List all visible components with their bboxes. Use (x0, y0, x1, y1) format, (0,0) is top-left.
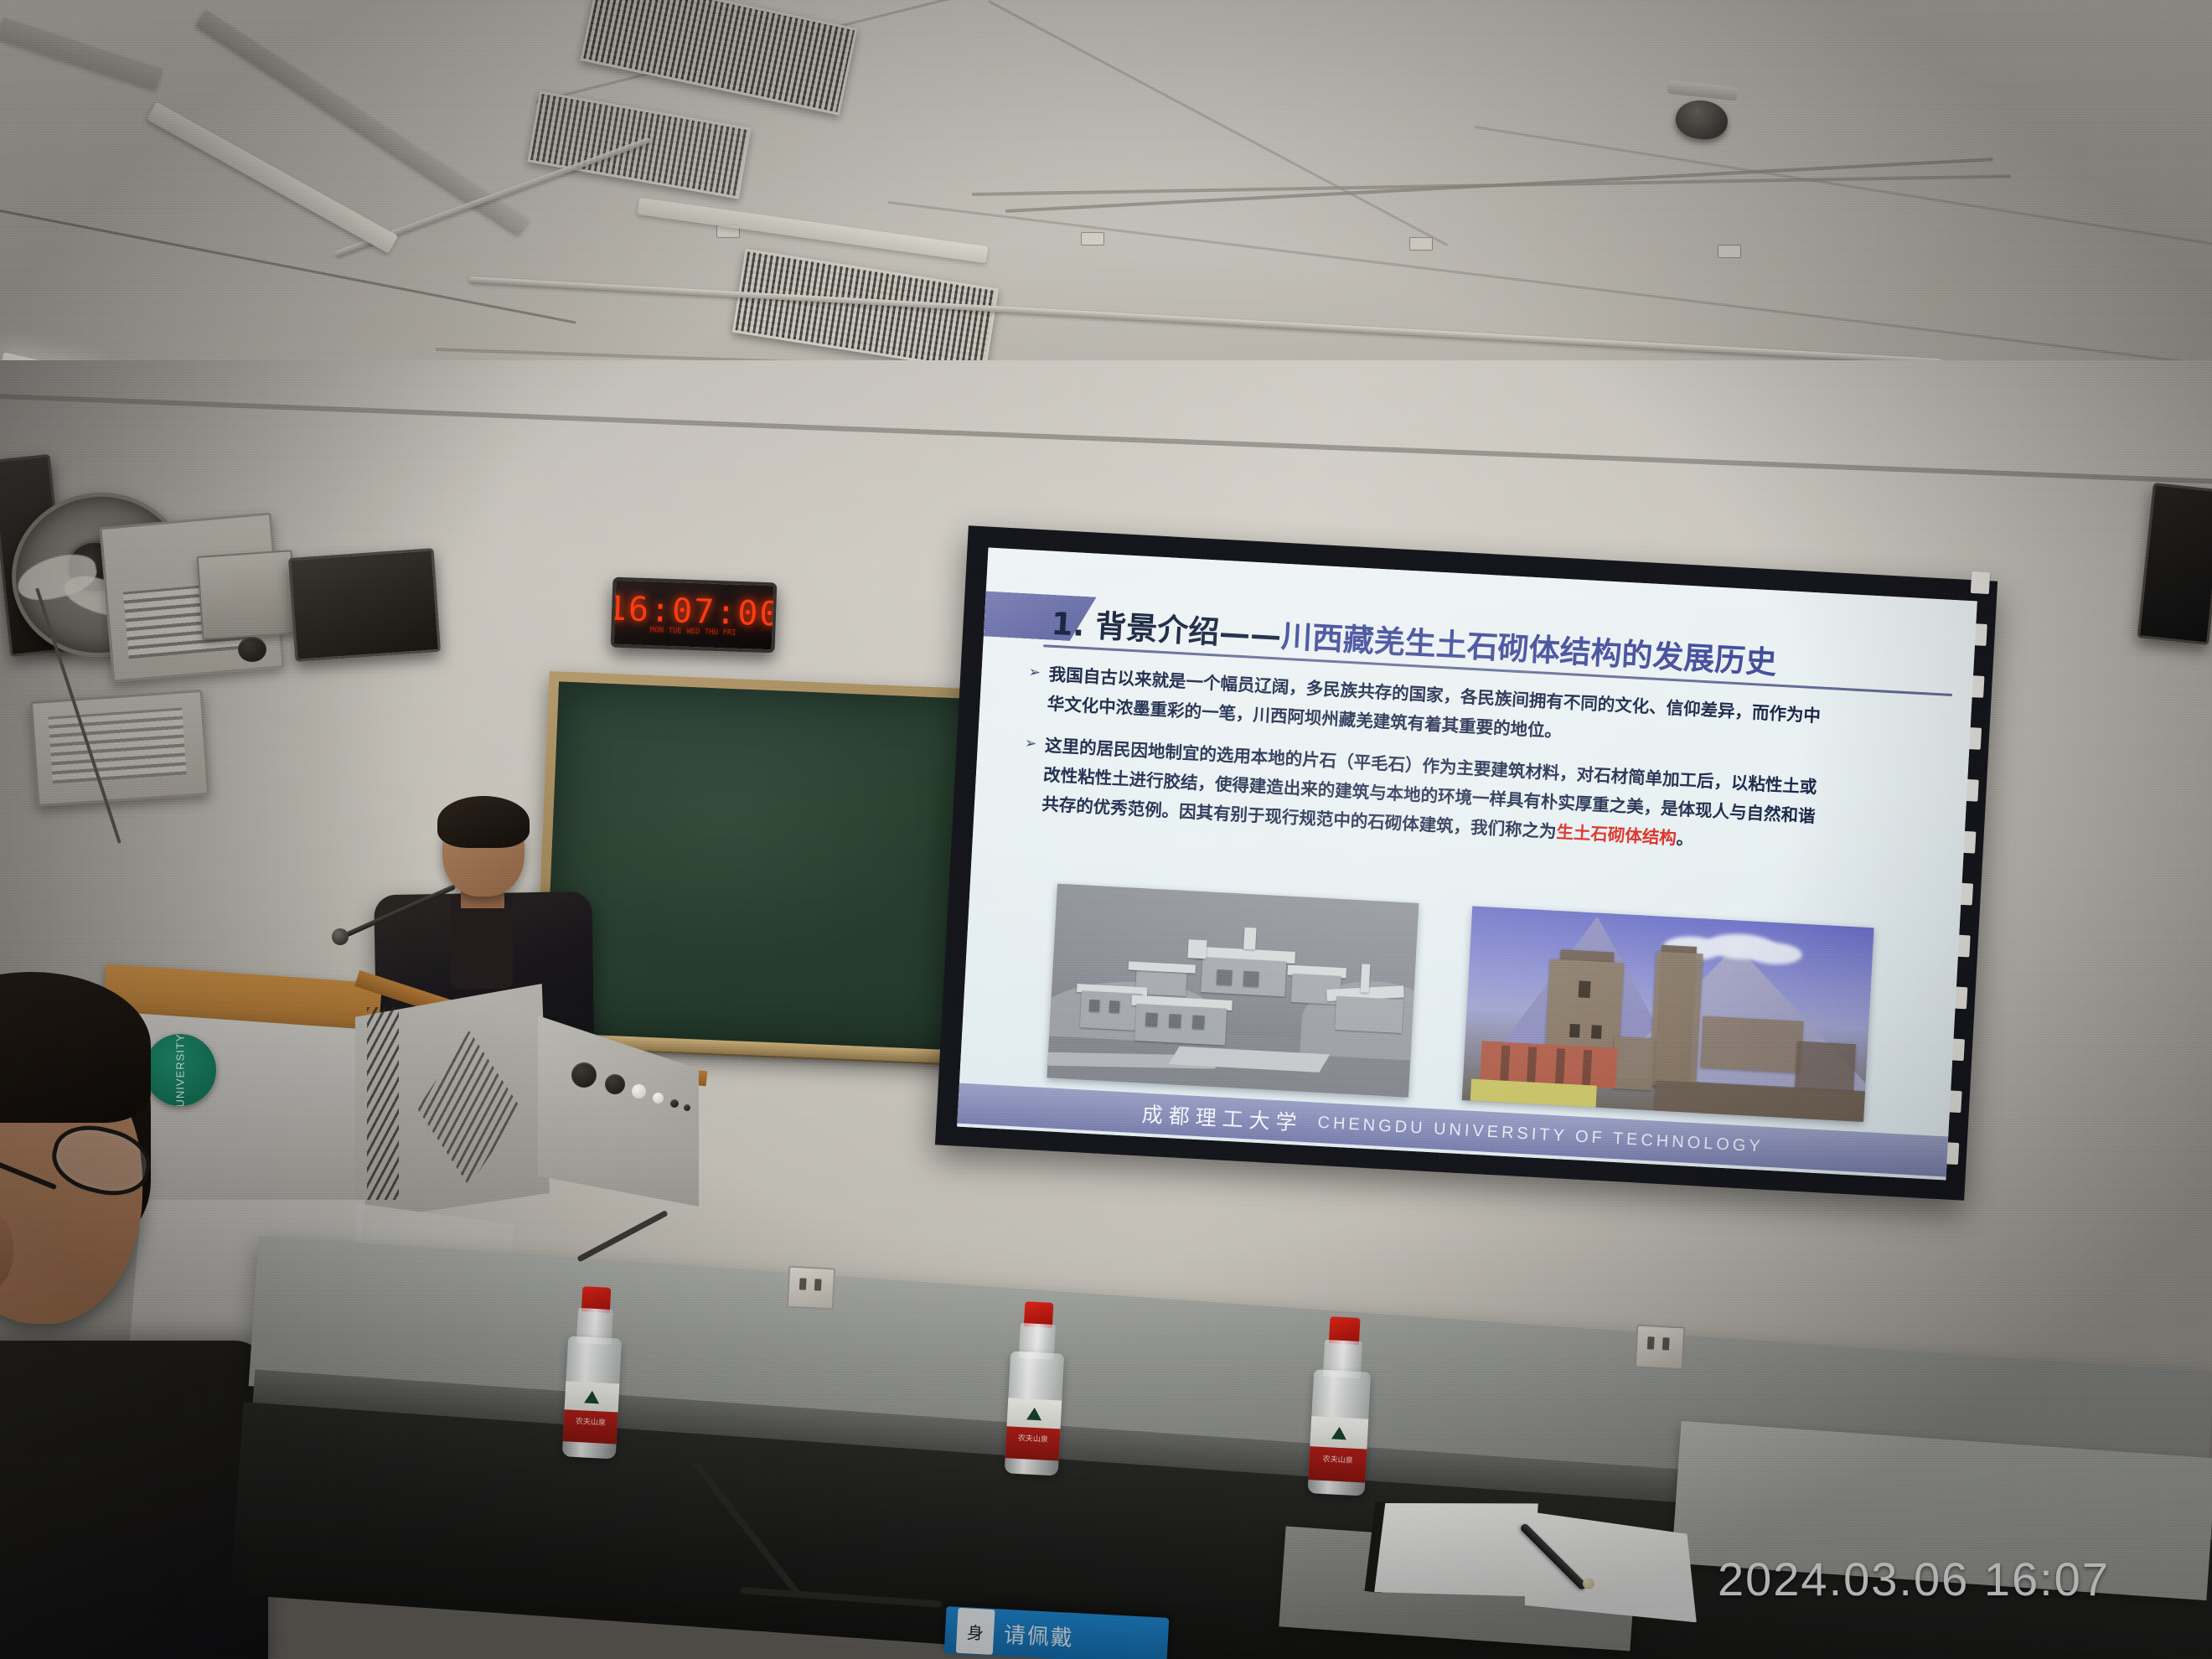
water-bottle: 农夫山泉 (1305, 1315, 1379, 1496)
open-notebook (1352, 1491, 1711, 1643)
bottle-label-upper (565, 1381, 620, 1412)
bottle-label-upper (1007, 1398, 1062, 1429)
water-bottle: 农夫山泉 (1001, 1300, 1072, 1476)
camera-datestamp: 2024.03.06 16:07 (1718, 1552, 2110, 1606)
slide-image-watchtower (1462, 906, 1874, 1122)
ceiling-pipe-clip (1409, 237, 1433, 251)
microphone-head-icon (332, 928, 349, 945)
bottle-label-upper (1310, 1416, 1368, 1450)
bottle-logo-icon (584, 1390, 600, 1403)
notebook-left-page (1374, 1495, 1538, 1600)
slide-title-dash: —— (1218, 615, 1282, 654)
wall-power-socket (787, 1266, 836, 1310)
presenter-hair (437, 796, 530, 848)
lectern-hole (684, 1104, 690, 1111)
clock-time: 16:07:00 (611, 592, 778, 631)
lectern-hole (605, 1074, 625, 1094)
ceiling-pipe-clip (1718, 245, 1741, 258)
notebook-right-page (1521, 1512, 1702, 1623)
digital-wall-clock: 16:07:00 MON TUE WED THU FRI (611, 577, 778, 654)
slide-image-row (1047, 884, 1873, 1122)
sign-plate-icon: 身 (956, 1608, 995, 1655)
wall-box-louvers (48, 708, 186, 784)
sign-text: 请佩戴 (1003, 1617, 1075, 1651)
bottle-brand: 农夫山泉 (1322, 1453, 1353, 1465)
bottle-label-lower: 农夫山泉 (563, 1409, 618, 1444)
projector-lens-icon (238, 637, 266, 662)
slide-image-village (1047, 884, 1419, 1098)
ceiling-pipe-clip (1081, 232, 1104, 245)
bullet-marker-icon: ➢ (1028, 659, 1041, 687)
bottle-logo-icon (1026, 1407, 1042, 1420)
water-bottle: 农夫山泉 (559, 1285, 630, 1460)
bullet-text-after: 。 (1676, 828, 1694, 849)
slide-bullet-list: ➢ 我国自古以来就是一个幅员辽阔，多民族共存的国家，各民族间拥有不同的文化、信仰… (1021, 659, 1946, 867)
lectern-right-panel (538, 1016, 699, 1207)
audience-torso (0, 1341, 268, 1659)
slide-title-number: 1. 背景介绍 (1051, 606, 1221, 651)
presentation-slide: 1. 背景介绍——川西藏羌生土石砌体结构的发展历史 ➢ 我国自古以来就是一个幅员… (957, 548, 1977, 1181)
bottle-brand: 农夫山泉 (576, 1415, 607, 1428)
lectern-hole (670, 1099, 679, 1108)
lectern-hole (653, 1093, 664, 1103)
clock-weekday-segments: MON TUE WED THU FRI (650, 627, 736, 638)
university-name-cn: 成都理工大学 (1141, 1098, 1304, 1136)
wall-speaker-ceiling-left (288, 548, 441, 662)
wall-power-socket (1635, 1325, 1686, 1371)
bottle-label-lower: 农夫山泉 (1005, 1426, 1061, 1460)
bullet-marker-icon: ➢ (1024, 730, 1037, 758)
lecture-hall-photo: 16:07:00 MON TUE WED THU FRI 1. 背景介绍——川西… (0, 0, 2212, 1659)
lectern-hole (632, 1084, 646, 1098)
bottle-label-lower: 农夫山泉 (1308, 1446, 1367, 1483)
bullet-highlight: 生土石砌体结构 (1556, 822, 1677, 849)
projection-screen: 1. 背景介绍——川西藏羌生土石砌体结构的发展历史 ➢ 我国自古以来就是一个幅员… (957, 548, 1977, 1181)
lectern-hole (571, 1062, 597, 1088)
audience-hair-top (0, 972, 151, 1123)
bottle-brand: 农夫山泉 (1018, 1432, 1049, 1445)
bottle-logo-icon (1331, 1426, 1347, 1439)
projector-mount (197, 550, 298, 640)
